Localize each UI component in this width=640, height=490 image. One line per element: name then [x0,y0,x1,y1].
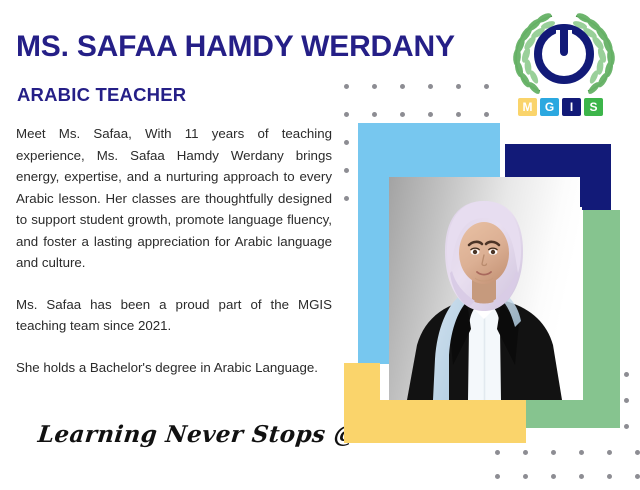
text-column: MS. SAFAA HAMDY WERDANY ARABIC TEACHER M… [0,0,345,490]
bio-text: Meet Ms. Safaa, With 11 years of teachin… [16,123,332,378]
decorative-rect-yellow-2 [344,400,526,443]
power-symbol-icon [538,28,590,80]
laurel-wreath-icon [502,6,626,96]
decorative-rect-green-2 [513,400,620,428]
bio-paragraph-3: She holds a Bachelor's degree in Arabic … [16,357,332,379]
logo-letter-g: G [540,98,559,116]
teacher-profile-poster: MS. SAFAA HAMDY WERDANY ARABIC TEACHER M… [0,0,640,490]
bio-paragraph-1: Meet Ms. Safaa, With 11 years of teachin… [16,123,332,274]
portrait-illustration [389,177,580,400]
page-subtitle: ARABIC TEACHER [17,85,186,105]
logo-letter-m: M [518,98,537,116]
logo-letters: M G I S [518,98,603,116]
logo-letter-i: I [562,98,581,116]
logo-letter-s: S [584,98,603,116]
decorative-rect-navy-2 [582,144,611,210]
mgis-logo: M G I S [502,6,626,118]
teacher-photo [389,177,580,400]
decorative-rect-green [583,210,620,428]
bio-paragraph-2: Ms. Safaa has been a proud part of the M… [16,294,332,337]
